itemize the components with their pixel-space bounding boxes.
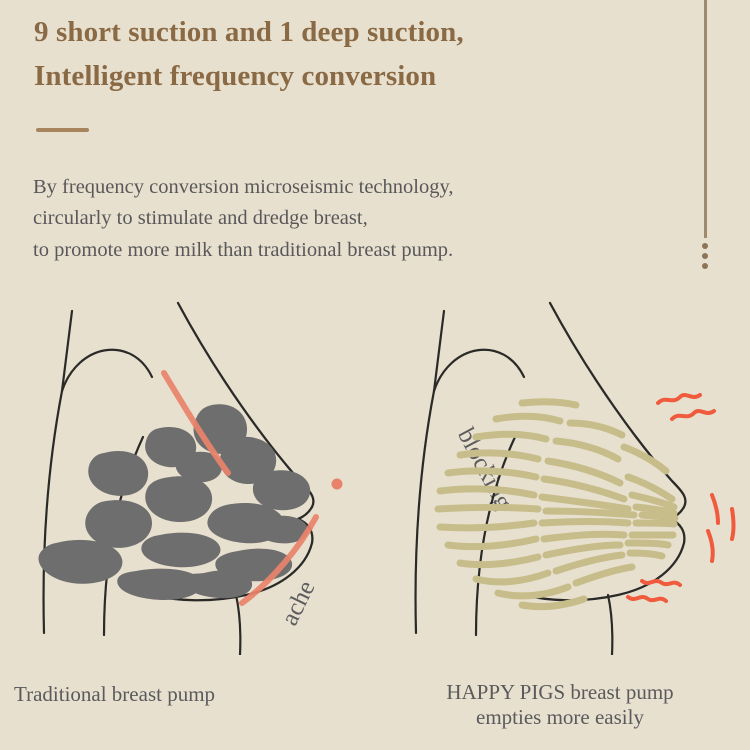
accent-underline <box>36 128 89 132</box>
edge-dot-3 <box>702 263 708 269</box>
edge-dot-1 <box>702 243 708 249</box>
page-title: 9 short suction and 1 deep suction, Inte… <box>34 10 664 98</box>
infographic-page: 9 short suction and 1 deep suction, Inte… <box>0 0 750 750</box>
traditional-pump-illustration: blocking ache <box>38 303 517 655</box>
edge-dot-2 <box>702 253 708 259</box>
comparison-illustrations: blocking ache <box>0 295 750 655</box>
edge-rule <box>704 0 707 238</box>
arm-outer-line <box>44 391 62 633</box>
body-description: By frequency conversion microseismic tec… <box>33 172 673 266</box>
happy-pigs-pump-illustration <box>416 303 734 655</box>
shoulder-line <box>62 350 152 391</box>
shoulder-line-right <box>434 350 524 391</box>
body-lower-line-right <box>608 595 612 655</box>
label-ache: ache <box>276 577 320 630</box>
caption-happy-pigs: HAPPY PIGS breast pump empties more easi… <box>395 680 725 730</box>
blocked-duct-blobs <box>38 404 310 600</box>
ache-marker-dot <box>332 479 343 490</box>
caption-traditional: Traditional breast pump <box>14 682 344 707</box>
arm-outer-line-right <box>416 391 434 633</box>
